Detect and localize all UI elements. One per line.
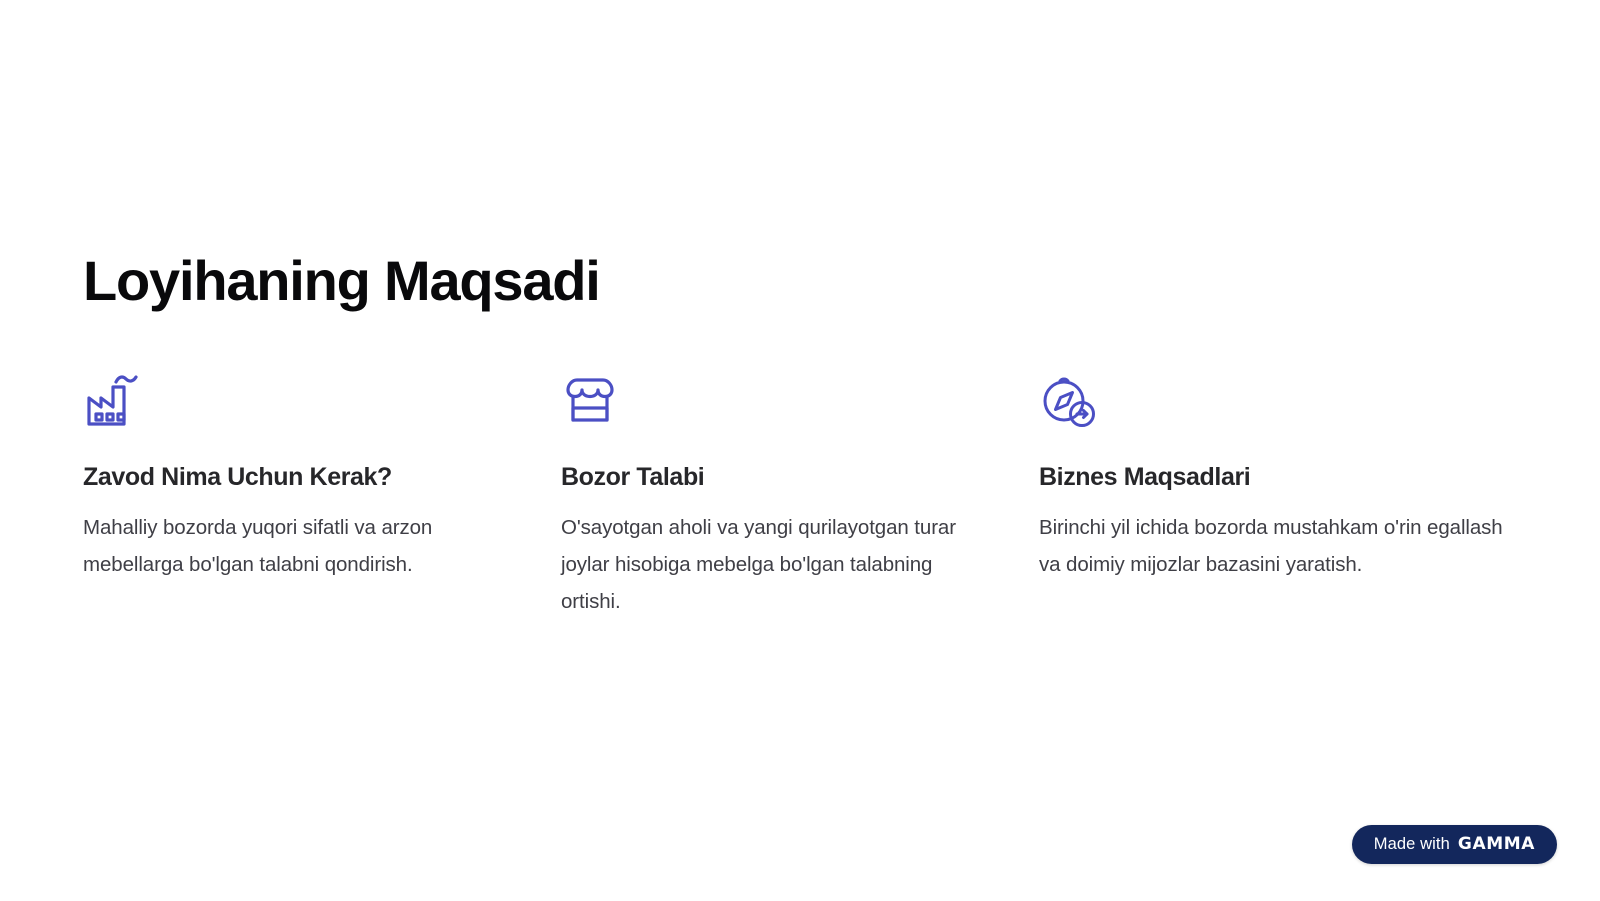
feature-card-title: Bozor Talabi [561, 461, 991, 494]
feature-card-body: Mahalliy bozorda yuqori sifatli va arzon… [83, 510, 513, 584]
page-title: Loyihaning Maqsadi [83, 250, 1523, 313]
slide-content: Loyihaning Maqsadi Zavod Nima Uchun Kera… [83, 250, 1523, 621]
storefront-icon [561, 371, 619, 429]
made-with-label: Made with [1374, 836, 1450, 853]
slide-canvas: Loyihaning Maqsadi Zavod Nima Uchun Kera… [0, 0, 1600, 901]
feature-card-body: Birinchi yil ichida bozorda mustahkam o'… [1039, 510, 1519, 584]
feature-card: Bozor Talabi O'sayotgan aholi va yangi q… [561, 371, 991, 621]
feature-card: Zavod Nima Uchun Kerak? Mahalliy bozorda… [83, 371, 513, 621]
feature-card-title: Biznes Maqsadlari [1039, 461, 1519, 494]
feature-card-title: Zavod Nima Uchun Kerak? [83, 461, 513, 494]
gamma-wordmark: GAMMA [1458, 836, 1535, 853]
feature-card: Biznes Maqsadlari Birinchi yil ichida bo… [1039, 371, 1519, 621]
feature-card-body: O'sayotgan aholi va yangi qurilayotgan t… [561, 510, 991, 621]
factory-icon [83, 371, 141, 429]
compass-arrow-icon [1039, 371, 1097, 429]
made-with-gamma-badge[interactable]: Made with GAMMA [1352, 825, 1557, 864]
feature-card-grid: Zavod Nima Uchun Kerak? Mahalliy bozorda… [83, 371, 1523, 621]
